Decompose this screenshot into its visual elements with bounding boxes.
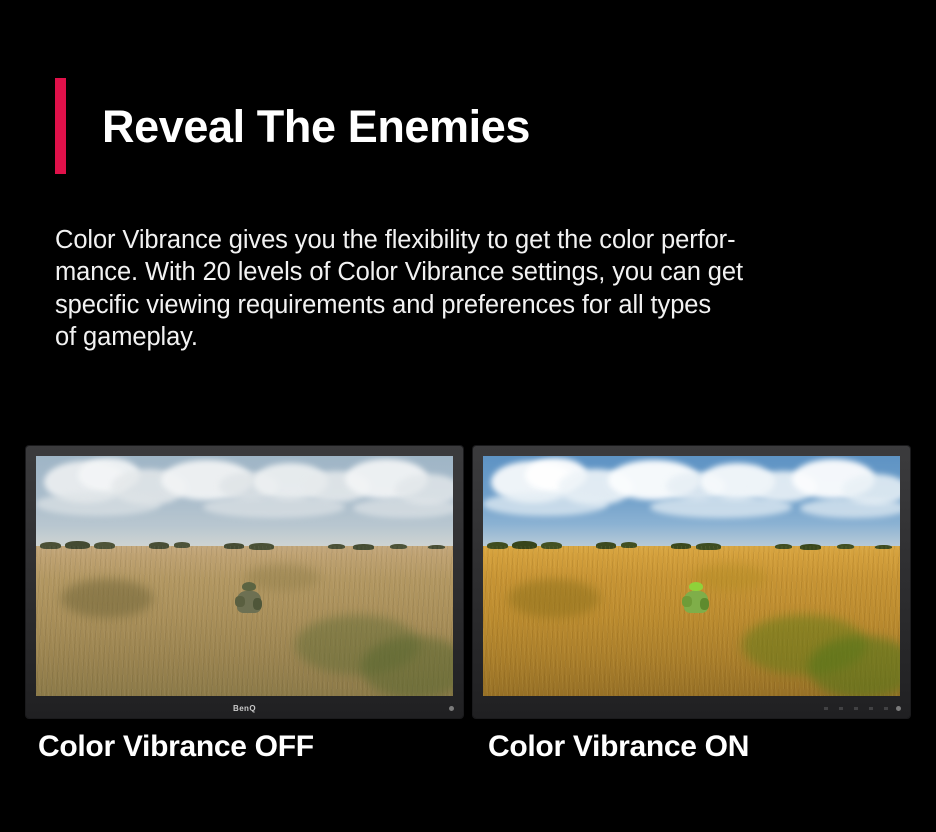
caption-vibrance-on: Color Vibrance ON [488, 730, 749, 764]
body-line-1: Color Vibrance gives you the flexibility… [55, 224, 875, 256]
scene-image-off [36, 456, 453, 696]
body-line-4: of gameplay. [55, 321, 875, 353]
screen-vibrance-off [36, 456, 453, 696]
power-led-icon-right [896, 706, 901, 711]
monitor-right-vibrance-on [473, 446, 910, 718]
monitor-left-vibrance-off: BenQ [26, 446, 463, 718]
osd-buttons[interactable] [824, 707, 888, 710]
promo-page: Reveal The Enemies Color Vibrance gives … [0, 0, 936, 832]
sky-off [36, 456, 453, 547]
benq-logo-left: BenQ [233, 704, 256, 713]
field-off [36, 546, 453, 696]
page-title: Reveal The Enemies [102, 104, 530, 149]
body-line-3: specific viewing requirements and prefer… [55, 289, 875, 321]
body-line-2: mance. With 20 levels of Color Vibrance … [55, 256, 875, 288]
accent-bar [55, 78, 66, 174]
power-led-icon-left [449, 706, 454, 711]
scene-image-on [483, 456, 900, 696]
bezel-bottom-left: BenQ [26, 696, 463, 718]
body-paragraph: Color Vibrance gives you the flexibility… [55, 224, 875, 354]
headline-block: Reveal The Enemies [55, 78, 530, 174]
monitor-comparison: BenQ [26, 446, 910, 718]
field-on [483, 546, 900, 696]
soldier-figure-off [234, 582, 267, 618]
caption-row: Color Vibrance OFF Color Vibrance ON [0, 730, 936, 780]
screen-vibrance-on [483, 456, 900, 696]
caption-vibrance-off: Color Vibrance OFF [38, 730, 314, 764]
soldier-figure-on [681, 582, 714, 618]
bezel-bottom-right [473, 696, 910, 718]
sky-on [483, 456, 900, 547]
